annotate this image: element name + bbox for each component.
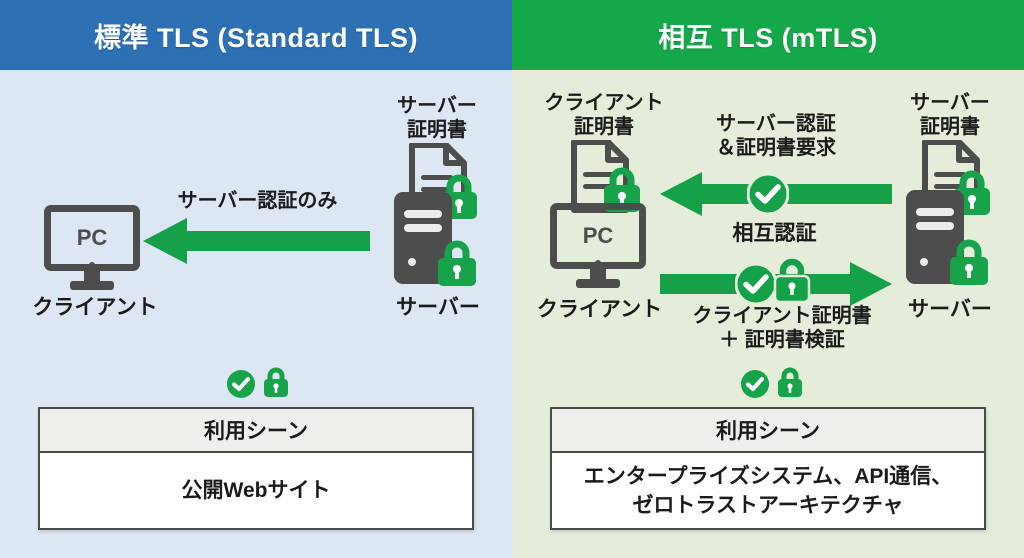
check-badge-icon bbox=[740, 369, 770, 399]
standard-tls-header: 標準 TLS (Standard TLS) bbox=[0, 0, 512, 70]
use-case-body-text: 公開Webサイト bbox=[182, 477, 331, 505]
use-case-body-text: エンタープライズシステム、API通信、 ゼロトラストアーキテクチャ bbox=[584, 463, 953, 520]
use-case-table: 利用シーン 公開Webサイト bbox=[38, 407, 474, 530]
use-case-table-body: 公開Webサイト bbox=[40, 453, 472, 530]
client-cert-label: クライアント 証明書 bbox=[524, 92, 684, 139]
use-case-header-text: 利用シーン bbox=[716, 415, 820, 445]
client-label: クライアント bbox=[0, 296, 190, 321]
mutual-auth-label: 相互認証 bbox=[687, 222, 862, 247]
server-cert-label: サーバー 証明書 bbox=[885, 92, 1015, 139]
use-case-table-body: エンタープライズシステム、API通信、 ゼロトラストアーキテクチャ bbox=[552, 453, 984, 530]
server-lock-icon bbox=[946, 237, 992, 287]
lock-icon bbox=[771, 257, 813, 304]
standard-tls-title: 標準 TLS (Standard TLS) bbox=[94, 16, 418, 55]
mutual-tls-header: 相互 TLS (mTLS) bbox=[512, 0, 1024, 70]
check-badge-icon bbox=[747, 173, 789, 215]
client-monitor-icon: PC bbox=[44, 205, 140, 290]
client-monitor-icon: PC bbox=[550, 203, 646, 288]
mutual-tls-panel: 相互 TLS (mTLS) クライアント 証明書 PC bbox=[512, 0, 1024, 558]
server-auth-only-label: サーバー認証のみ bbox=[150, 190, 365, 214]
client-label: クライアント bbox=[522, 298, 677, 323]
client-device-label: PC bbox=[77, 225, 108, 251]
server-auth-request-label: サーバー認証 ＆証明書要求 bbox=[686, 113, 866, 160]
lock-icon bbox=[775, 366, 805, 399]
standard-tls-panel: 標準 TLS (Standard TLS) PC クライアント サーバー認証のみ… bbox=[0, 0, 512, 558]
use-case-table: 利用シーン エンタープライズシステム、API通信、 ゼロトラストアーキテクチャ bbox=[550, 407, 986, 530]
client-cert-verify-label: クライアント証明書 ＋ 証明書検証 bbox=[667, 305, 897, 352]
lock-icon bbox=[261, 366, 291, 399]
server-cert-label: サーバー 証明書 bbox=[372, 95, 502, 142]
server-to-client-arrow bbox=[143, 218, 370, 264]
mutual-tls-title: 相互 TLS (mTLS) bbox=[658, 16, 877, 55]
server-lock-icon bbox=[434, 238, 480, 288]
server-label: サーバー bbox=[368, 296, 508, 321]
check-badge-icon bbox=[226, 369, 256, 399]
use-case-header-text: 利用シーン bbox=[204, 415, 308, 445]
server-label: サーバー bbox=[880, 298, 1020, 323]
use-case-table-header: 利用シーン bbox=[552, 409, 984, 453]
client-device-label: PC bbox=[583, 223, 614, 249]
tls-comparison-diagram: 標準 TLS (Standard TLS) PC クライアント サーバー認証のみ… bbox=[0, 0, 1024, 558]
use-case-table-header: 利用シーン bbox=[40, 409, 472, 453]
